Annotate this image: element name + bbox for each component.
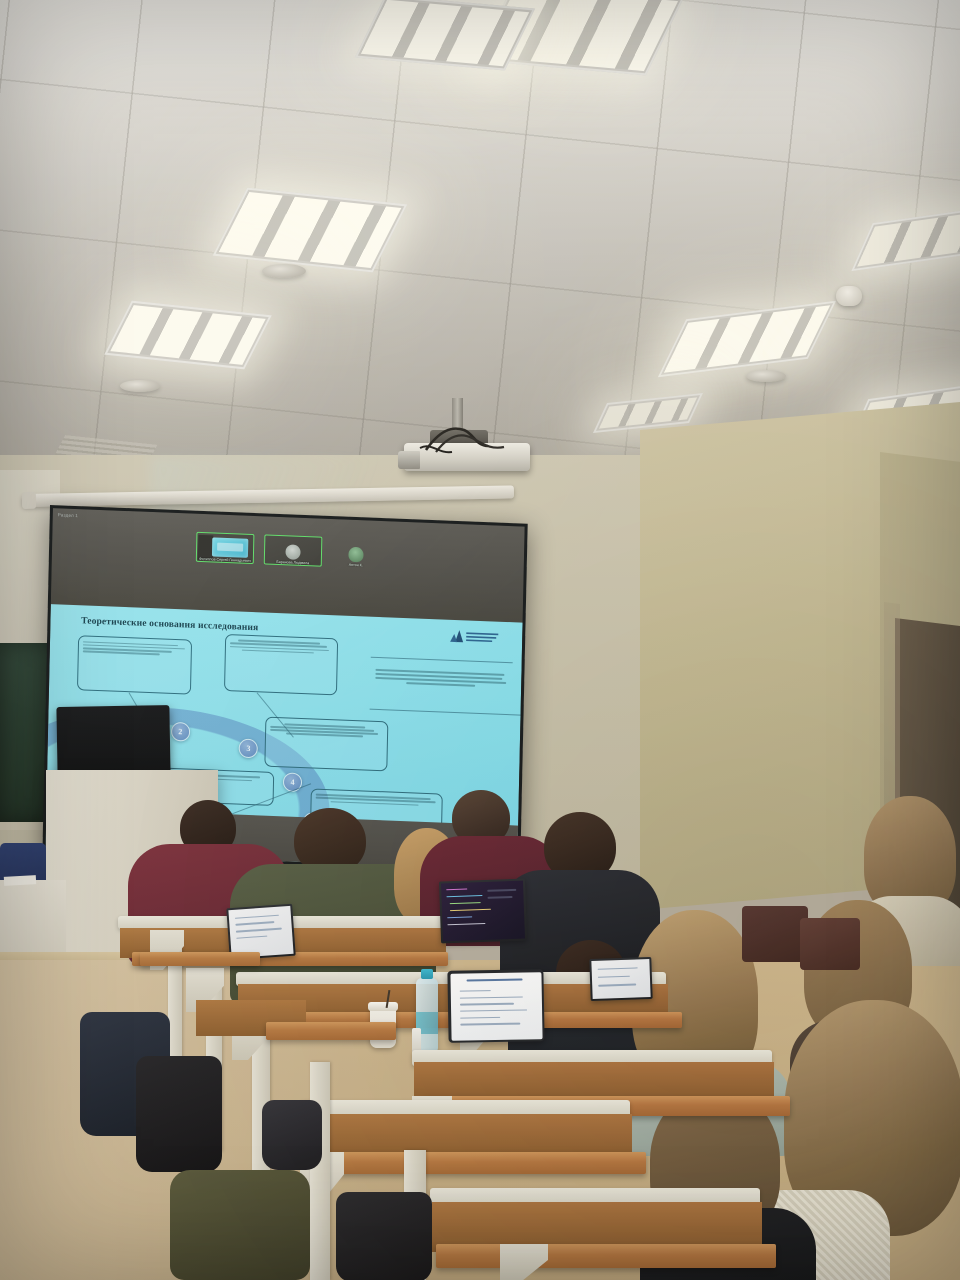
ceiling-speaker xyxy=(746,370,786,382)
laptop-screen xyxy=(591,959,650,999)
laptop[interactable] xyxy=(589,957,652,1001)
laptop-lid xyxy=(589,957,652,1001)
participant-tiles: Филиппов Сергей Геннадьевич Баранова Люд… xyxy=(52,526,524,575)
desk-leg xyxy=(310,1062,330,1280)
tablet[interactable] xyxy=(447,969,544,1043)
presenter-monitor xyxy=(56,705,170,779)
chair-back[interactable] xyxy=(800,918,860,970)
tablet-screen xyxy=(450,972,542,1041)
participant-tile[interactable]: Баранова Людмила xyxy=(264,535,323,567)
laptop-screen xyxy=(441,881,525,942)
projector-lens xyxy=(398,451,420,469)
slide-paragraph xyxy=(375,667,507,691)
lecture-hall-photo: Раздел 1 Филиппов Сергей Геннадьевич Бар… xyxy=(0,0,960,1280)
screen-housing-end-cap xyxy=(22,492,36,509)
handbag[interactable] xyxy=(262,1100,322,1170)
paper-sheet xyxy=(4,875,36,886)
participant-tile[interactable]: Филиппов Сергей Геннадьевич xyxy=(196,532,255,564)
cup-lid xyxy=(368,1002,398,1011)
participant-tile[interactable]: Антон К. xyxy=(332,537,381,569)
videocall-top-bar: Раздел 1 Филиппов Сергей Геннадьевич Бар… xyxy=(51,508,525,623)
avatar xyxy=(348,547,363,563)
desk-surface xyxy=(140,952,260,966)
process-node: 2 xyxy=(171,722,190,742)
slide-divider xyxy=(370,709,521,716)
chair-back[interactable] xyxy=(742,906,808,962)
shared-screen-thumbnail xyxy=(212,537,248,557)
slide-text-box xyxy=(224,634,338,695)
university-logo-icon xyxy=(445,627,501,645)
backpack[interactable] xyxy=(336,1192,432,1280)
bottle-cap xyxy=(421,969,433,979)
projector-cables xyxy=(418,424,538,458)
slide-divider xyxy=(371,657,513,664)
laptop-screen xyxy=(228,906,293,958)
laptop[interactable] xyxy=(439,879,527,944)
ceiling-speaker xyxy=(120,380,160,392)
slide-text-box xyxy=(77,635,191,694)
participant-name: Баранова Людмила xyxy=(266,560,320,566)
screen-corner-label: Раздел 1 xyxy=(58,512,78,518)
avatar xyxy=(285,545,300,561)
backpack[interactable] xyxy=(136,1056,222,1172)
ceiling-speaker xyxy=(262,264,306,278)
smoke-detector-icon xyxy=(836,286,862,306)
desk-surface xyxy=(266,1022,396,1040)
laptop-lid xyxy=(439,879,527,944)
process-node: 3 xyxy=(239,738,258,758)
participant-name: Антон К. xyxy=(334,562,378,568)
participant-name: Филиппов Сергей Геннадьевич xyxy=(198,557,252,563)
duffel-bag[interactable] xyxy=(170,1170,310,1280)
slide-title: Теоретические основания исследования xyxy=(81,617,258,634)
